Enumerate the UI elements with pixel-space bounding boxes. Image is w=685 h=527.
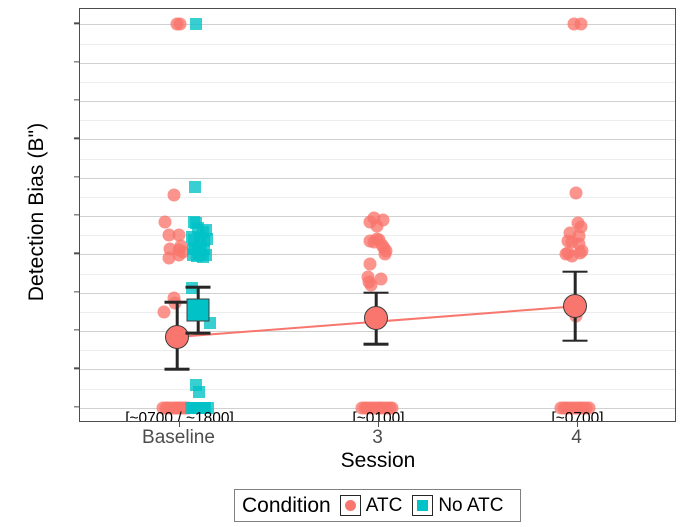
data-point-atc xyxy=(569,187,582,200)
data-point-atc xyxy=(377,213,390,226)
data-point-atc xyxy=(575,18,588,31)
data-point-atc xyxy=(159,215,172,228)
data-point-no-atc xyxy=(190,18,202,30)
grid-line-minor xyxy=(80,82,675,83)
x-axis-tick-mark xyxy=(577,422,578,427)
data-point-no-atc xyxy=(200,249,212,261)
grid-line-minor xyxy=(80,389,675,390)
x-axis-tick-mark xyxy=(179,422,180,427)
mean-marker-atc xyxy=(165,325,189,349)
data-point-no-atc xyxy=(189,181,201,193)
grid-line-minor xyxy=(80,120,675,121)
data-point-atc xyxy=(167,188,180,201)
legend-title: Condition xyxy=(242,494,331,518)
session-time-annotation: [~0100] xyxy=(352,410,404,422)
legend-key-no-atc[interactable] xyxy=(412,495,433,516)
data-point-atc xyxy=(375,273,388,286)
error-bar-cap xyxy=(563,339,588,342)
x-axis-tick-label: 3 xyxy=(372,427,383,449)
error-bar-cap xyxy=(165,301,190,304)
x-axis-tick-label: Baseline xyxy=(142,427,215,449)
session-time-annotation: [~0700 / ~1800] xyxy=(125,410,234,422)
data-point-atc xyxy=(379,248,392,261)
legend-key-atc[interactable] xyxy=(340,495,361,516)
circle-marker-icon xyxy=(345,500,356,511)
legend-entries: ATCNo ATC xyxy=(340,495,514,517)
data-point-atc xyxy=(174,18,187,31)
grid-line-major xyxy=(80,178,675,179)
legend[interactable]: Condition ATCNo ATC xyxy=(234,489,521,522)
error-bar-cap xyxy=(186,286,211,289)
grid-line-minor xyxy=(80,159,675,160)
error-bar-cap xyxy=(186,332,211,335)
data-point-atc xyxy=(575,245,588,258)
grid-line-major xyxy=(80,139,675,140)
grid-line-major xyxy=(80,63,675,64)
data-point-atc xyxy=(157,305,170,318)
error-bar-cap xyxy=(364,343,389,346)
session-time-annotation: [~0700] xyxy=(551,410,603,422)
x-axis-title: Session xyxy=(79,449,677,473)
x-axis-tick-label: 4 xyxy=(571,427,582,449)
y-axis-title: Detection Bias (B") xyxy=(25,12,49,412)
data-point-no-atc xyxy=(193,386,205,398)
error-bar-cap xyxy=(364,291,389,294)
x-axis-tick-mark xyxy=(378,422,379,427)
grid-line-minor xyxy=(80,350,675,351)
mean-marker-no-atc xyxy=(187,298,210,321)
legend-label: No ATC xyxy=(438,495,503,517)
mean-marker-atc xyxy=(563,294,587,318)
plot-panel: [~0700 / ~1800][~0100][~0700] xyxy=(79,8,676,422)
error-bar-cap xyxy=(563,270,588,273)
grid-line-major xyxy=(80,101,675,102)
square-marker-icon xyxy=(417,500,428,511)
data-point-atc xyxy=(363,257,376,270)
error-bar-cap xyxy=(165,368,190,371)
mean-marker-atc xyxy=(364,306,388,330)
grid-line-minor xyxy=(80,44,675,45)
data-point-atc xyxy=(173,249,186,262)
legend-label: ATC xyxy=(366,495,403,517)
